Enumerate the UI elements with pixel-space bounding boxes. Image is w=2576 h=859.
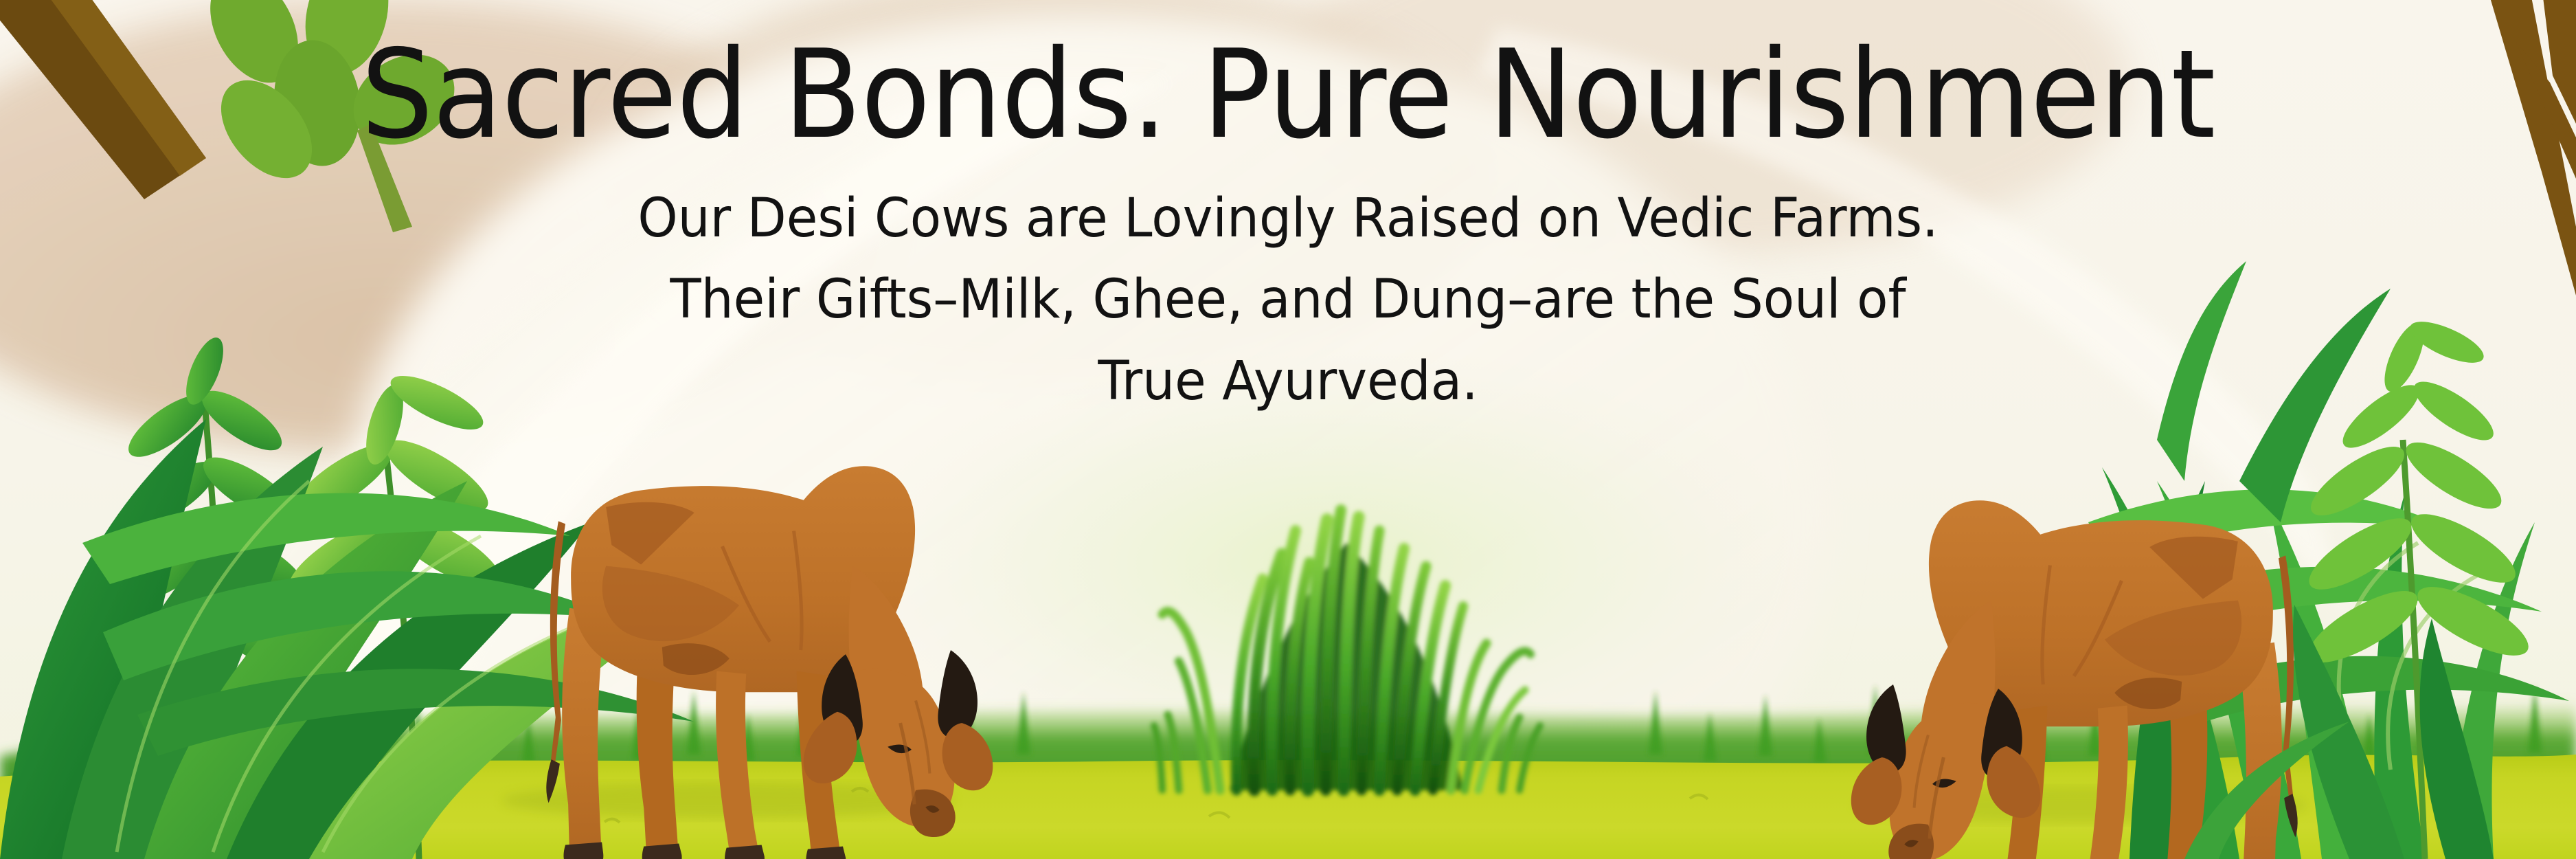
hero-banner: Sacred Bonds. Pure Nourishment Our Desi … (0, 0, 2576, 859)
right-foreground-leaves (0, 0, 2576, 859)
